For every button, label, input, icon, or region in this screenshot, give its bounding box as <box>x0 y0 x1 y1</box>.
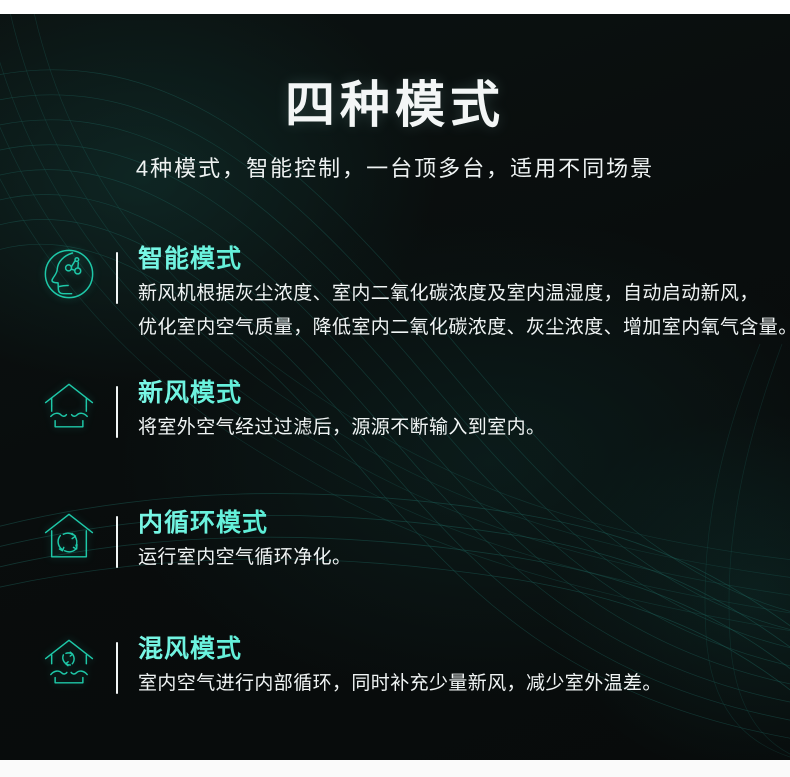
promo-page: 四种模式 4种模式，智能控制，一台顶多台，适用不同场景 智能模式 <box>0 0 790 777</box>
top-white-band <box>0 0 790 14</box>
mode-title: 智能模式 <box>138 244 790 275</box>
house-mixed-air-icon <box>30 632 108 688</box>
house-fresh-air-icon <box>30 376 108 432</box>
bottom-white-band <box>0 760 790 777</box>
mode-divider <box>116 252 118 304</box>
smart-head-circle-icon <box>30 242 108 302</box>
mode-item-fresh-air: 新风模式 将室外空气经过过滤后，源源不断输入到室内。 <box>30 376 790 444</box>
mode-item-smart: 智能模式 新风机根据灰尘浓度、室内二氧化碳浓度及室内温湿度，自动启动新风， 优化… <box>30 242 790 344</box>
mode-divider <box>116 642 118 694</box>
mode-body: 智能模式 新风机根据灰尘浓度、室内二氧化碳浓度及室内温湿度，自动启动新风， 优化… <box>138 242 790 344</box>
mode-desc-line: 新风机根据灰尘浓度、室内二氧化碳浓度及室内温湿度，自动启动新风， <box>138 279 790 310</box>
mode-desc-line: 优化室内空气质量，降低室内二氧化碳浓度、灰尘浓度、增加室内氧气含量。 <box>138 313 790 344</box>
mode-title: 内循环模式 <box>138 508 790 539</box>
mode-item-recirculate: 内循环模式 运行室内空气循环净化。 <box>30 506 790 574</box>
mode-title: 混风模式 <box>138 634 790 665</box>
mode-body: 新风模式 将室外空气经过过滤后，源源不断输入到室内。 <box>138 376 790 444</box>
house-recirculate-icon <box>30 506 108 562</box>
mode-desc-line: 室内空气进行内部循环，同时补充少量新风，减少室外温差。 <box>138 669 790 700</box>
page-subtitle: 4种模式，智能控制，一台顶多台，适用不同场景 <box>0 152 790 185</box>
mode-desc-line: 运行室内空气循环净化。 <box>138 543 790 574</box>
mode-desc-line: 将室外空气经过过滤后，源源不断输入到室内。 <box>138 413 790 444</box>
mode-body: 混风模式 室内空气进行内部循环，同时补充少量新风，减少室外温差。 <box>138 632 790 700</box>
dark-stage: 四种模式 4种模式，智能控制，一台顶多台，适用不同场景 智能模式 <box>0 14 790 760</box>
mode-body: 内循环模式 运行室内空气循环净化。 <box>138 506 790 574</box>
mode-item-mixed-air: 混风模式 室内空气进行内部循环，同时补充少量新风，减少室外温差。 <box>30 632 790 700</box>
mode-divider <box>116 516 118 568</box>
page-title: 四种模式 <box>0 76 790 135</box>
mode-title: 新风模式 <box>138 378 790 409</box>
mode-divider <box>116 386 118 438</box>
